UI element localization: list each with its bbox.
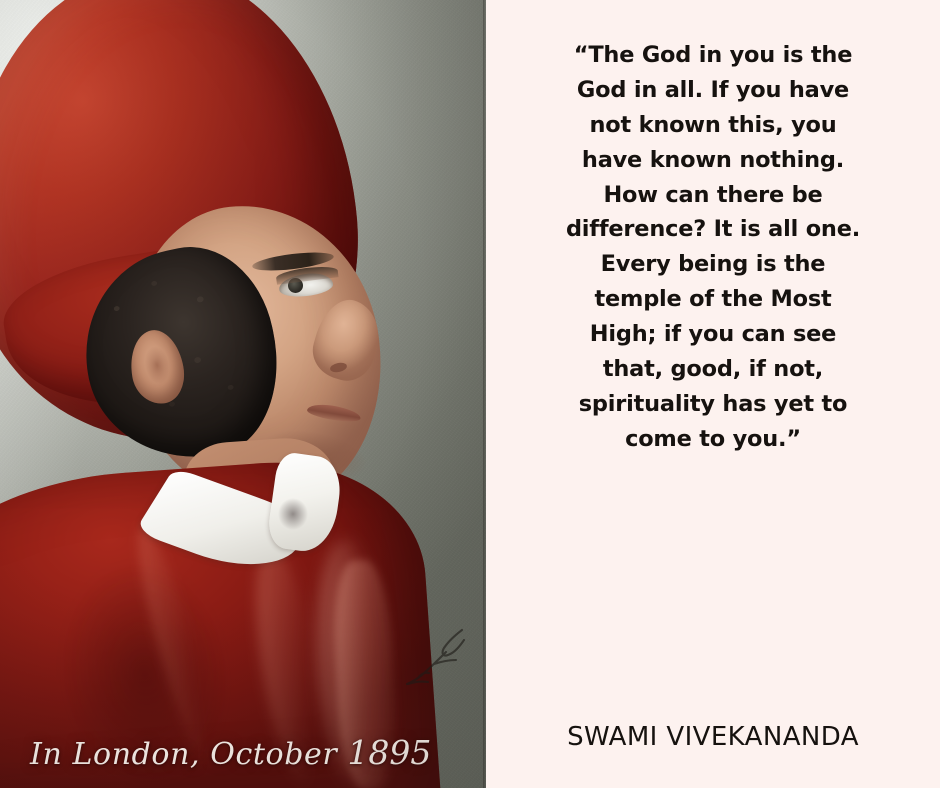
quote-line: God in all. If you have	[496, 73, 930, 108]
quote-line: that, good, if not,	[496, 352, 930, 387]
quote-card: In London, October 1895 “The God in you …	[0, 0, 940, 788]
quote-line: come to you.”	[496, 422, 930, 457]
quote-line: difference? It is all one.	[496, 212, 930, 247]
photo-vignette	[0, 0, 486, 788]
quote-line: How can there be	[496, 178, 930, 213]
quote-line: not known this, you	[496, 108, 930, 143]
quote-line: spirituality has yet to	[496, 387, 930, 422]
quote-line: Every being is the	[496, 247, 930, 282]
quote-line: temple of the Most	[496, 282, 930, 317]
portrait-photo: In London, October 1895	[0, 0, 486, 788]
quote-line: High; if you can see	[496, 317, 930, 352]
quote-line: have known nothing.	[496, 143, 930, 178]
quote-text: “The God in you is the God in all. If yo…	[496, 38, 930, 457]
quote-line: “The God in you is the	[496, 38, 930, 73]
quote-attribution: SWAMI VIVEKANANDA	[486, 722, 940, 752]
quote-panel: “The God in you is the God in all. If yo…	[486, 0, 940, 788]
